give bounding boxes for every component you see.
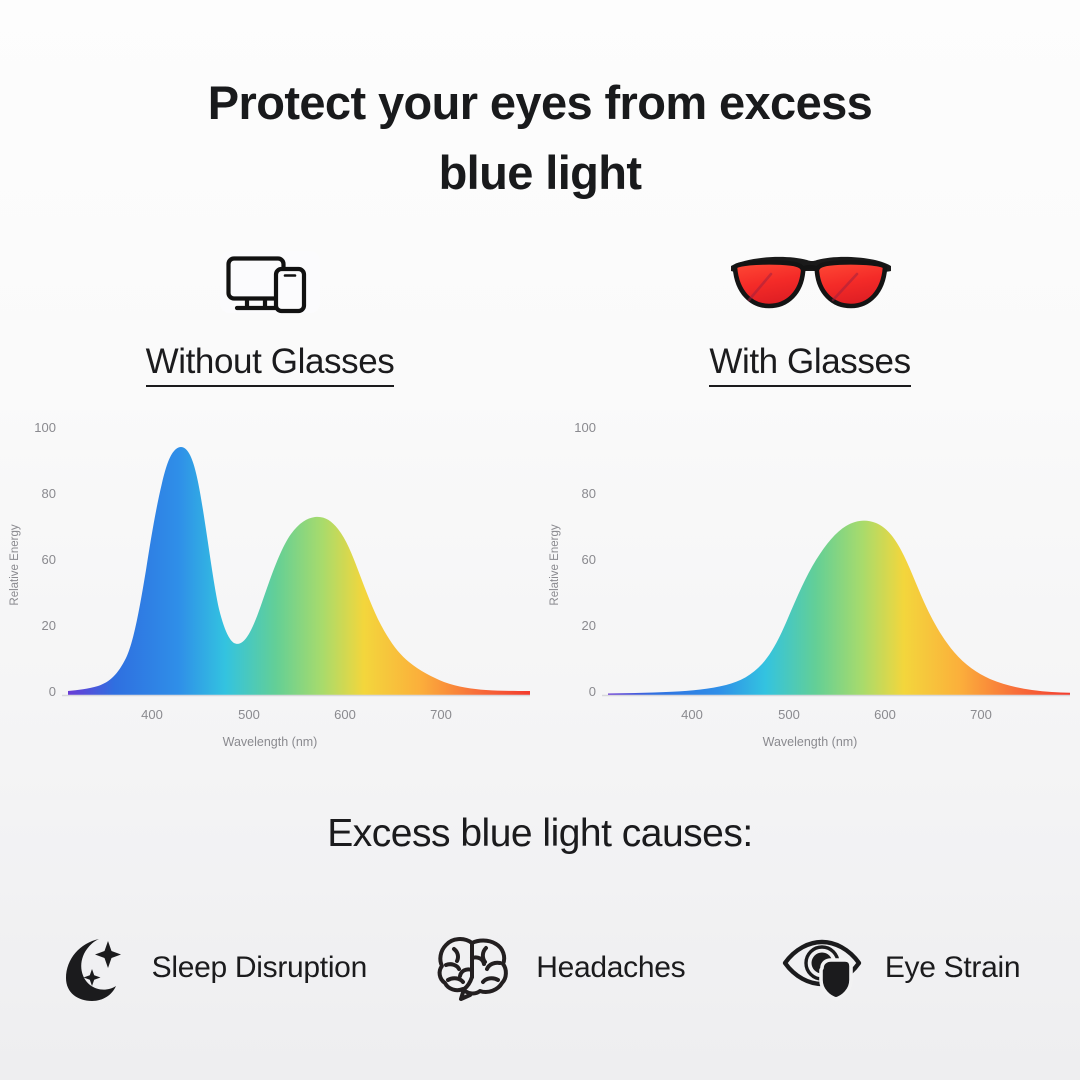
- chart-without-glasses: 100 80 60 20 0 Relative Energy 400 500 6…: [0, 410, 540, 760]
- svg-text:20: 20: [42, 618, 56, 633]
- svg-text:600: 600: [874, 707, 896, 722]
- panel-with-glasses-title: With Glasses: [709, 342, 910, 387]
- x-axis-labels-left: 400 500 600 700: [141, 707, 452, 722]
- spectrum-curve-without-glasses: [68, 447, 530, 695]
- panel-without-glasses: Without Glasses: [0, 228, 540, 788]
- svg-text:0: 0: [589, 684, 596, 699]
- x-axis-title-left: Wavelength (nm): [223, 735, 318, 749]
- causes-list: Sleep Disruption: [0, 918, 1080, 1018]
- blue-light-glasses-icon: [540, 228, 1080, 336]
- svg-text:100: 100: [34, 420, 56, 435]
- panel-with-glasses-header: With Glasses: [540, 228, 1080, 387]
- svg-text:400: 400: [681, 707, 703, 722]
- cause-label-sleep-disruption: Sleep Disruption: [152, 951, 367, 985]
- eye-shield-icon: [781, 927, 863, 1009]
- page-title-line-2: blue light: [0, 138, 1080, 208]
- svg-text:20: 20: [582, 618, 596, 633]
- svg-text:80: 80: [42, 486, 56, 501]
- svg-text:60: 60: [42, 552, 56, 567]
- crescent-moon-sparkle-icon: [48, 927, 130, 1009]
- y-axis-labels-left: 100 80 60 20 0: [34, 420, 56, 699]
- svg-text:500: 500: [238, 707, 260, 722]
- svg-text:700: 700: [430, 707, 452, 722]
- x-axis-labels-right: 400 500 600 700: [681, 707, 992, 722]
- cause-item-eye-strain: Eye Strain: [721, 927, 1080, 1009]
- panel-without-glasses-title: Without Glasses: [146, 342, 395, 387]
- panel-with-glasses: With Glasses: [540, 228, 1080, 788]
- page-title-line-1: Protect your eyes from excess: [208, 76, 872, 129]
- svg-text:60: 60: [582, 552, 596, 567]
- comparison-panels: Without Glasses: [0, 228, 1080, 788]
- svg-text:600: 600: [334, 707, 356, 722]
- cause-label-headaches: Headaches: [536, 951, 685, 985]
- page-title: Protect your eyes from excess blue light: [0, 68, 1080, 207]
- causes-heading: Excess blue light causes:: [0, 812, 1080, 856]
- infographic-page: Protect your eyes from excess blue light…: [0, 0, 1080, 1080]
- svg-text:0: 0: [49, 684, 56, 699]
- spectrum-curve-with-glasses: [608, 521, 1070, 695]
- svg-text:80: 80: [582, 486, 596, 501]
- svg-text:500: 500: [778, 707, 800, 722]
- brain-icon: [432, 927, 514, 1009]
- x-axis-title-right: Wavelength (nm): [763, 735, 858, 749]
- svg-text:700: 700: [970, 707, 992, 722]
- svg-text:400: 400: [141, 707, 163, 722]
- cause-item-headaches: Headaches: [397, 927, 722, 1009]
- chart-with-glasses: 100 80 60 20 0 Relative Energy 400 500 6…: [540, 410, 1080, 760]
- y-axis-title-right: Relative Energy: [549, 524, 561, 605]
- svg-text:100: 100: [574, 420, 596, 435]
- panel-without-glasses-header: Without Glasses: [0, 228, 540, 387]
- y-axis-labels-right: 100 80 60 20 0: [574, 420, 596, 699]
- cause-item-sleep-disruption: Sleep Disruption: [0, 927, 397, 1009]
- y-axis-title-left: Relative Energy: [9, 524, 21, 605]
- monitor-and-phone-icon: [0, 228, 540, 336]
- cause-label-eye-strain: Eye Strain: [885, 951, 1020, 985]
